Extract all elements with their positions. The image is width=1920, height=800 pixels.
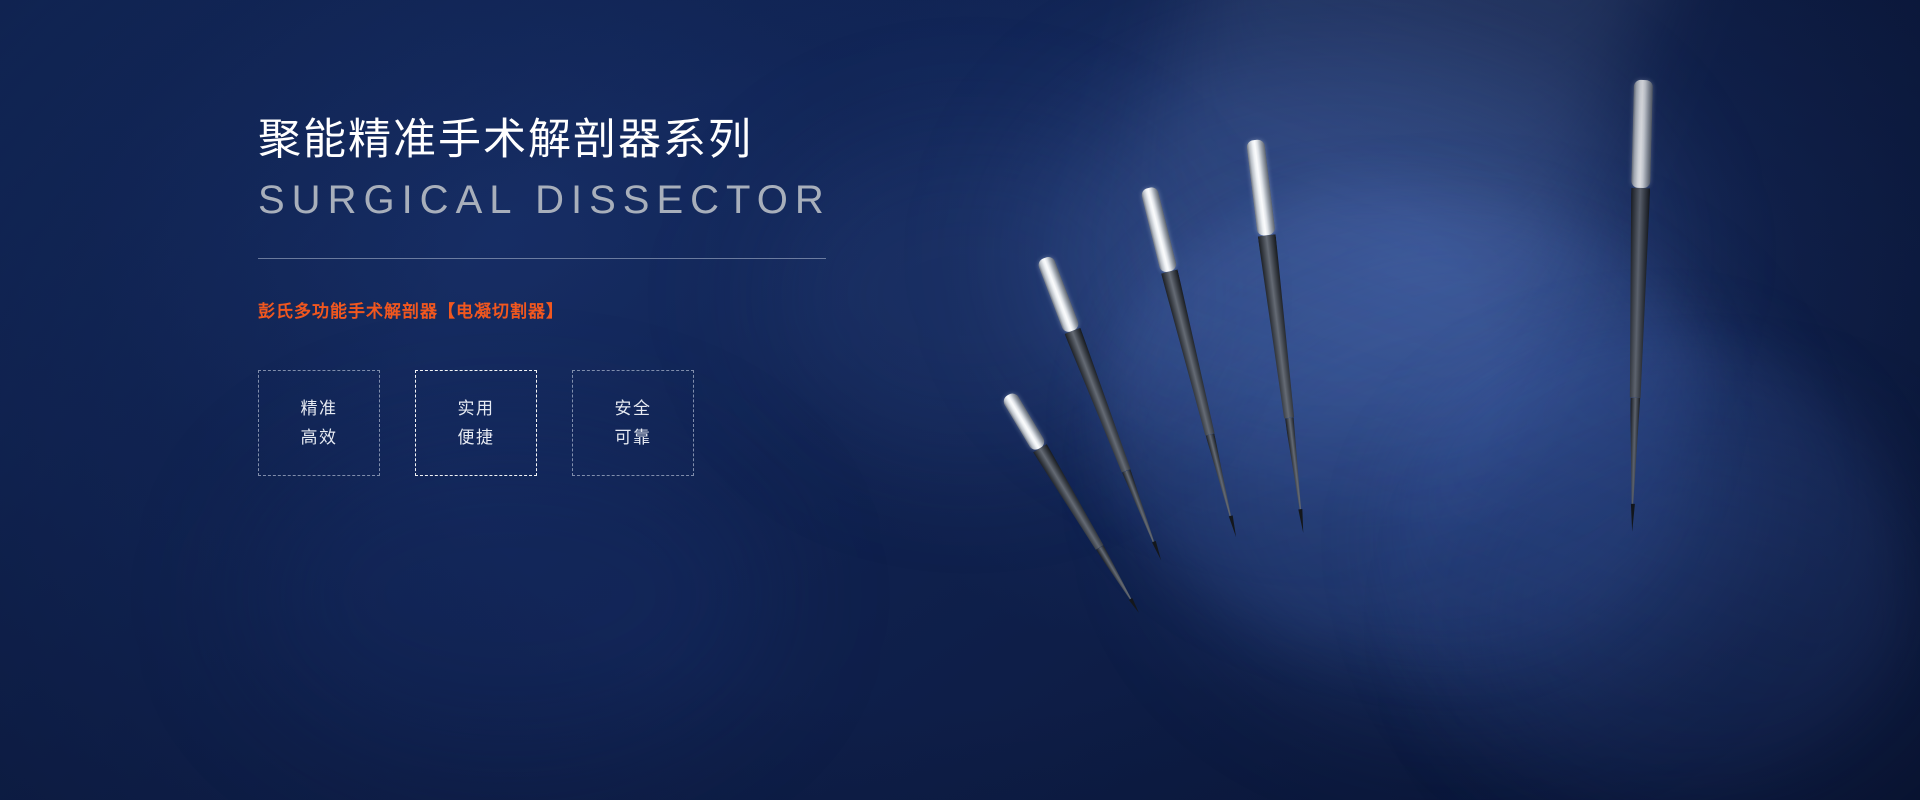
feature-badge-line2: 高效: [301, 423, 338, 452]
feature-badge-practical: 实用 便捷: [415, 370, 537, 476]
product-hero-banner: 聚能精准手术解剖器系列 SURGICAL DISSECTOR 彭氏多功能手术解剖…: [0, 0, 1920, 800]
feature-badge-line2: 便捷: [458, 423, 495, 452]
feature-badge-precision: 精准 高效: [258, 370, 380, 476]
feature-badge-line1: 实用: [458, 394, 495, 423]
page-subtitle: SURGICAL DISSECTOR: [258, 178, 898, 223]
page-title: 聚能精准手术解剖器系列: [258, 116, 898, 166]
product-tagline: 彭氏多功能手术解剖器【电凝切割器】: [258, 297, 898, 322]
feature-badge-line2: 可靠: [615, 423, 652, 452]
hero-text-block: 聚能精准手术解剖器系列 SURGICAL DISSECTOR 彭氏多功能手术解剖…: [258, 116, 898, 476]
divider: [258, 258, 826, 259]
feature-badge-safety: 安全 可靠: [572, 370, 694, 476]
feature-badge-line1: 安全: [615, 394, 652, 423]
feature-badge-line1: 精准: [301, 394, 338, 423]
feature-badge-group: 精准 高效 实用 便捷 安全 可靠: [258, 370, 898, 476]
